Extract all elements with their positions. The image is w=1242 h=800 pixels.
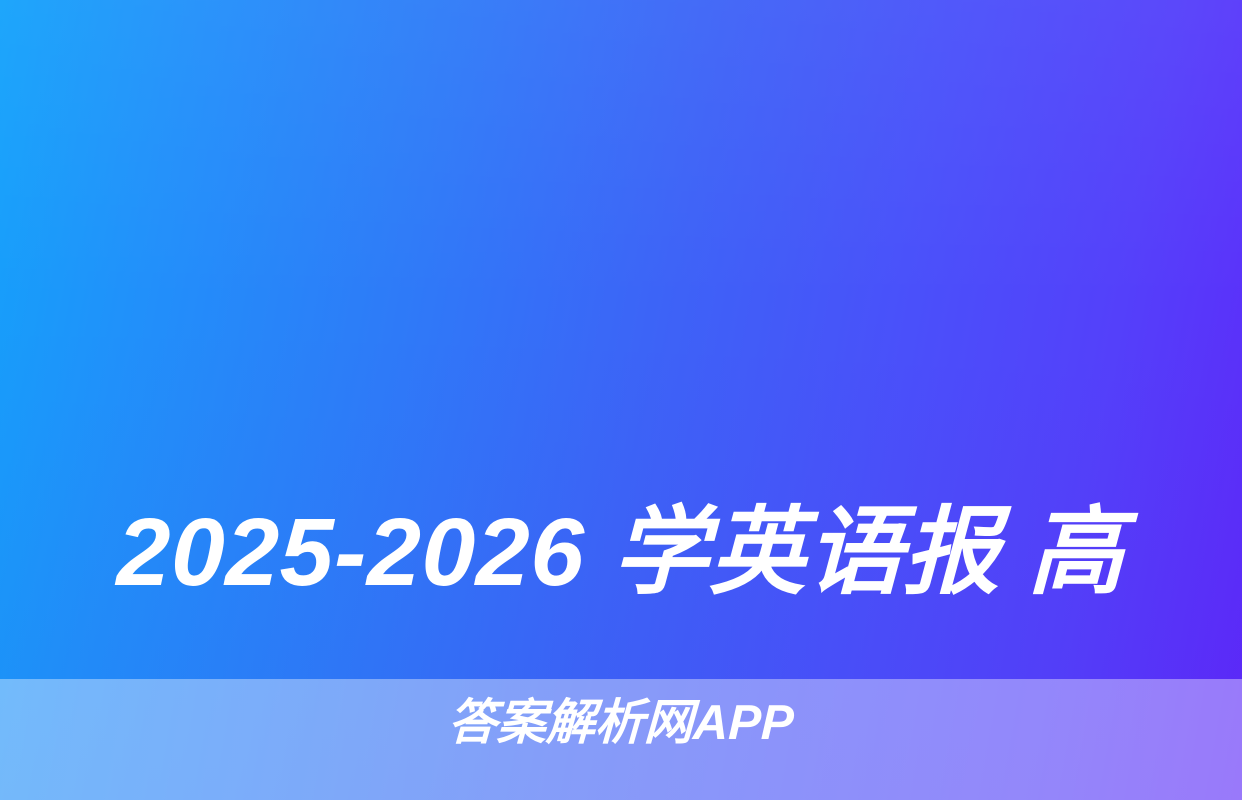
footer-brand-bar: 答案解析网APP	[0, 679, 1242, 800]
brand-name: 答案解析网APP	[447, 695, 795, 751]
answer-banner-card: 2025-2026 学英语报 高 二 新课程课标基础 第5 期答案 答案解析网A…	[0, 0, 1242, 800]
headline-line-1: 2025-2026 学英语报 高	[23, 478, 1220, 628]
